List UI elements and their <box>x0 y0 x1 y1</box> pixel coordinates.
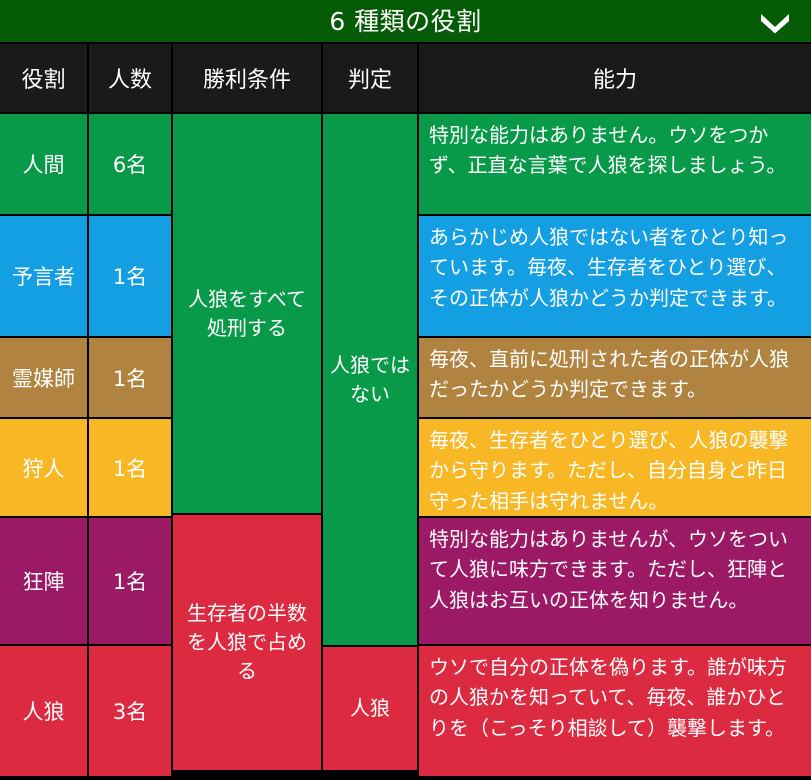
column-header-role: 役割 <box>0 44 87 112</box>
role-count: 6名 <box>89 114 171 214</box>
table-row: 予言者 <box>0 216 87 336</box>
ability-column: 特別な能力はありません。ウソをつかず、正直な言葉で人狼を探しましょう。 あらかじ… <box>419 114 811 780</box>
ability-text: 特別な能力はありません。ウソをつかず、正直な言葉で人狼を探しましょう。 <box>419 114 811 214</box>
table-row: 人間 <box>0 114 87 214</box>
win-condition-column: 人狼をすべて処刑する 生存者の半数を人狼で占める <box>173 114 321 780</box>
win-condition-village: 人狼をすべて処刑する <box>173 114 321 513</box>
role-count: 1名 <box>89 518 171 644</box>
win-condition-wolf: 生存者の半数を人狼で占める <box>173 515 321 770</box>
table-row: 霊媒師 <box>0 338 87 417</box>
table-row: 狩人 <box>0 419 87 516</box>
table-row: 狂陣 <box>0 518 87 644</box>
table-header-row: 役割 人数 勝利条件 判定 能力 <box>0 42 811 112</box>
page-title: 6 種類の役割 <box>329 9 481 34</box>
column-header-count: 人数 <box>89 44 171 112</box>
count-column: 6名 1名 1名 1名 1名 3名 <box>89 114 171 780</box>
role-count: 3名 <box>89 646 171 776</box>
roles-table: 役割 人数 勝利条件 判定 能力 人間 予言者 霊媒師 狩人 狂陣 人狼 6名 … <box>0 42 811 780</box>
role-table-panel: 6 種類の役割 役割 人数 勝利条件 判定 能力 人間 予言者 霊媒師 狩人 狂… <box>0 0 811 780</box>
ability-text: 毎夜、生存者をひとり選び、人狼の襲撃から守ります。ただし、自分自身と昨日守った相… <box>419 419 811 516</box>
column-header-ability: 能力 <box>419 44 811 112</box>
ability-text: 毎夜、直前に処刑された者の正体が人狼だったかどうか判定できます。 <box>419 338 811 417</box>
judgement-not-wolf: 人狼ではない <box>323 114 417 645</box>
role-count: 1名 <box>89 419 171 516</box>
chevron-down-icon[interactable] <box>755 7 795 35</box>
table-row: 人狼 <box>0 646 87 776</box>
role-count: 1名 <box>89 338 171 417</box>
table-body: 人間 予言者 霊媒師 狩人 狂陣 人狼 6名 1名 1名 1名 1名 3名 人狼… <box>0 112 811 780</box>
role-count: 1名 <box>89 216 171 336</box>
ability-text: ウソで自分の正体を偽ります。誰が味方の人狼かを知っていて、毎夜、誰かひとりを（こ… <box>419 646 811 776</box>
role-column: 人間 予言者 霊媒師 狩人 狂陣 人狼 <box>0 114 87 780</box>
ability-text: あらかじめ人狼ではない者をひとり知っています。毎夜、生存者をひとり選び、その正体… <box>419 216 811 336</box>
column-header-win: 勝利条件 <box>173 44 321 112</box>
panel-header[interactable]: 6 種類の役割 <box>0 0 811 42</box>
column-header-judge: 判定 <box>323 44 417 112</box>
judgement-wolf: 人狼 <box>323 647 417 770</box>
judgement-column: 人狼ではない 人狼 <box>323 114 417 780</box>
ability-text: 特別な能力はありませんが、ウソをついて人狼に味方できます。ただし、狂陣と人狼はお… <box>419 518 811 644</box>
